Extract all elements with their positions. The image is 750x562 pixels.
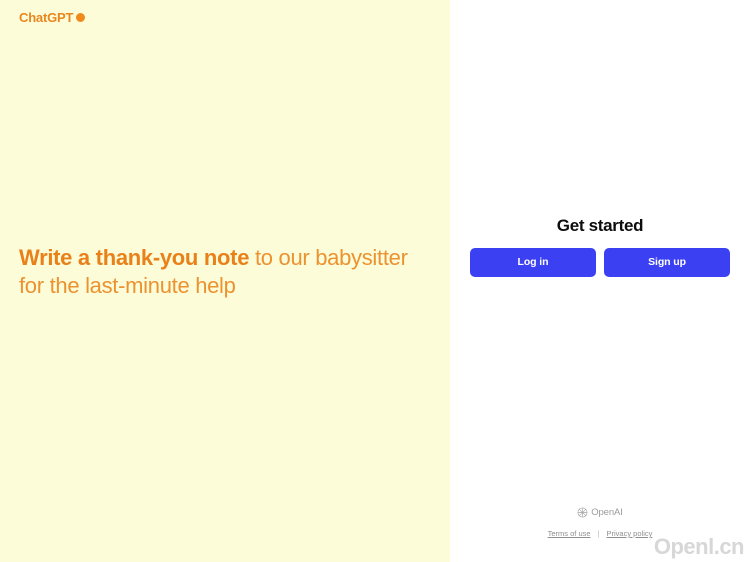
openai-brand: OpenAI (577, 507, 623, 518)
auth-button-group: Log in Sign up (450, 248, 750, 277)
footer: OpenAI Terms of use | Privacy policy (450, 505, 750, 538)
auth-panel: Get started Log in Sign up OpenAI Terms … (450, 0, 750, 562)
chatgpt-brand-label: ChatGPT (19, 11, 73, 24)
auth-block: Get started Log in Sign up (450, 216, 750, 277)
terms-of-use-link[interactable]: Terms of use (548, 529, 591, 538)
footer-links: Terms of use | Privacy policy (450, 529, 750, 538)
openai-logo-icon (577, 507, 588, 518)
login-page: ChatGPT Write a thank-you note to our ba… (0, 0, 750, 562)
promo-bold-text: Write a thank-you note (19, 245, 249, 270)
footer-separator: | (598, 529, 600, 538)
login-button[interactable]: Log in (470, 248, 596, 277)
orange-dot-icon (76, 13, 85, 22)
promo-panel: ChatGPT Write a thank-you note to our ba… (0, 0, 450, 562)
page-title: Get started (450, 216, 750, 236)
signup-button[interactable]: Sign up (604, 248, 730, 277)
promo-text: Write a thank-you note to our babysitter… (19, 244, 419, 300)
openai-brand-label: OpenAI (591, 507, 623, 518)
privacy-policy-link[interactable]: Privacy policy (607, 529, 653, 538)
promo-message: Write a thank-you note to our babysitter… (19, 244, 419, 300)
chatgpt-brand: ChatGPT (19, 11, 85, 24)
